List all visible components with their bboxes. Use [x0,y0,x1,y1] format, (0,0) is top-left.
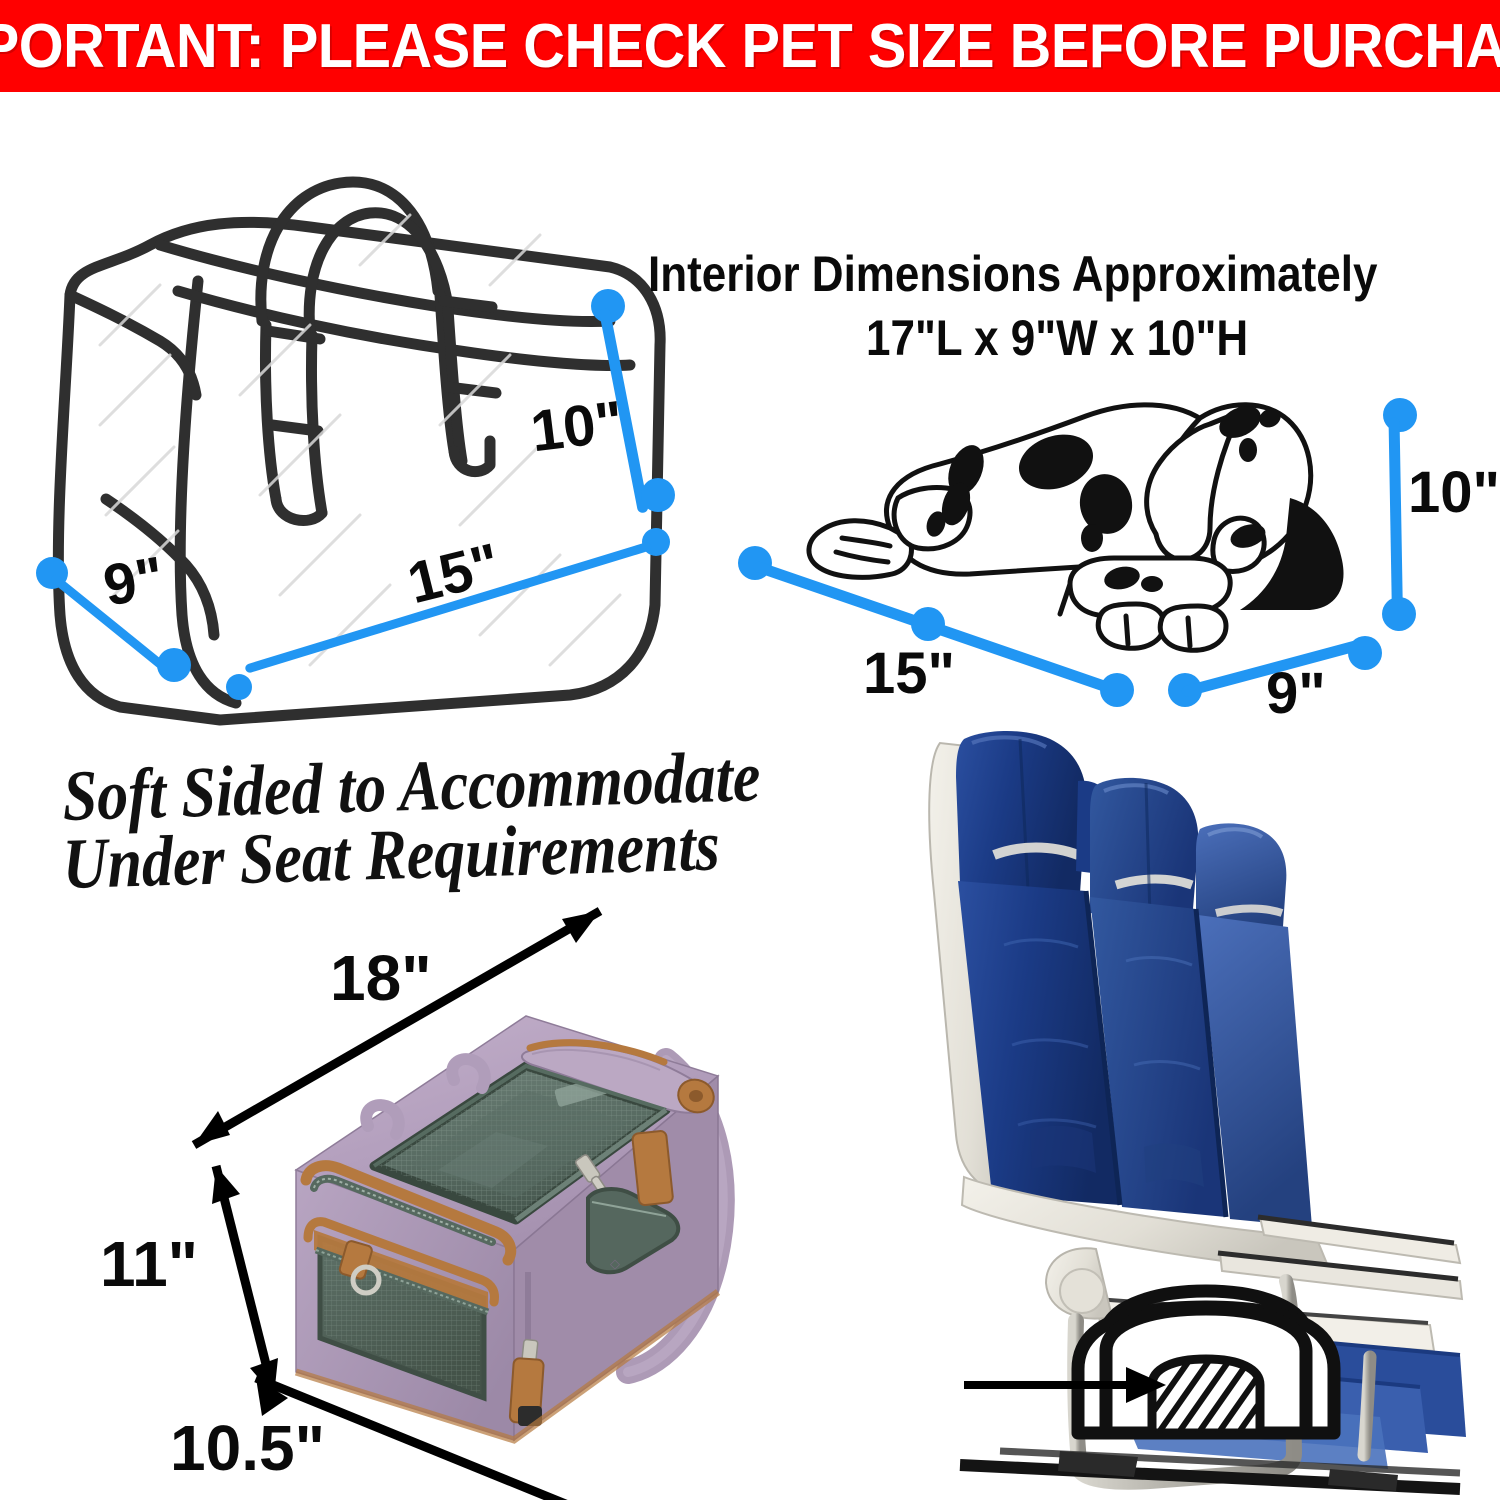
under-seat-pointer-arrow [960,1355,1190,1415]
dog-height-line [1389,417,1404,624]
bag-width-dot-lower [157,648,191,682]
bag-length-dot-left [226,674,252,700]
interior-dimensions-line2: 17"L x 9"W x 10"H [866,312,1248,365]
dog-height-dot-bottom [1382,597,1416,631]
carrier-height-label: 11" [100,1232,198,1296]
svg-text:◇: ◇ [610,1256,620,1271]
warning-banner: IMPORTANT: PLEASE CHECK PET SIZE BEFORE … [0,0,1500,92]
dog-height-label: 10" [1408,464,1500,522]
carrier-depth-label: 10.5" [170,1416,325,1480]
dog-length-dot-mid [911,607,945,641]
infographic-root: IMPORTANT: PLEASE CHECK PET SIZE BEFORE … [0,0,1500,1500]
dog-width-label: 9" [1266,665,1326,723]
interior-dimensions-line1: Interior Dimensions Approximately [648,248,1377,301]
warning-banner-text: IMPORTANT: PLEASE CHECK PET SIZE BEFORE … [0,11,1500,82]
carrier-length-label: 18" [330,946,432,1010]
carrier-length-arrow [170,895,630,1165]
dalmatian-dog-illustration [770,378,1390,678]
soft-sided-line2: Under Seat Requirements [62,809,720,900]
bag-height-dot-bottom [641,478,675,512]
dog-length-label: 15" [863,645,955,703]
dog-width-dot-right [1348,636,1382,670]
bag-width-label: 9" [99,548,168,615]
bag-height-label: 10" [528,393,626,462]
dog-length-dot-right [1100,673,1134,707]
